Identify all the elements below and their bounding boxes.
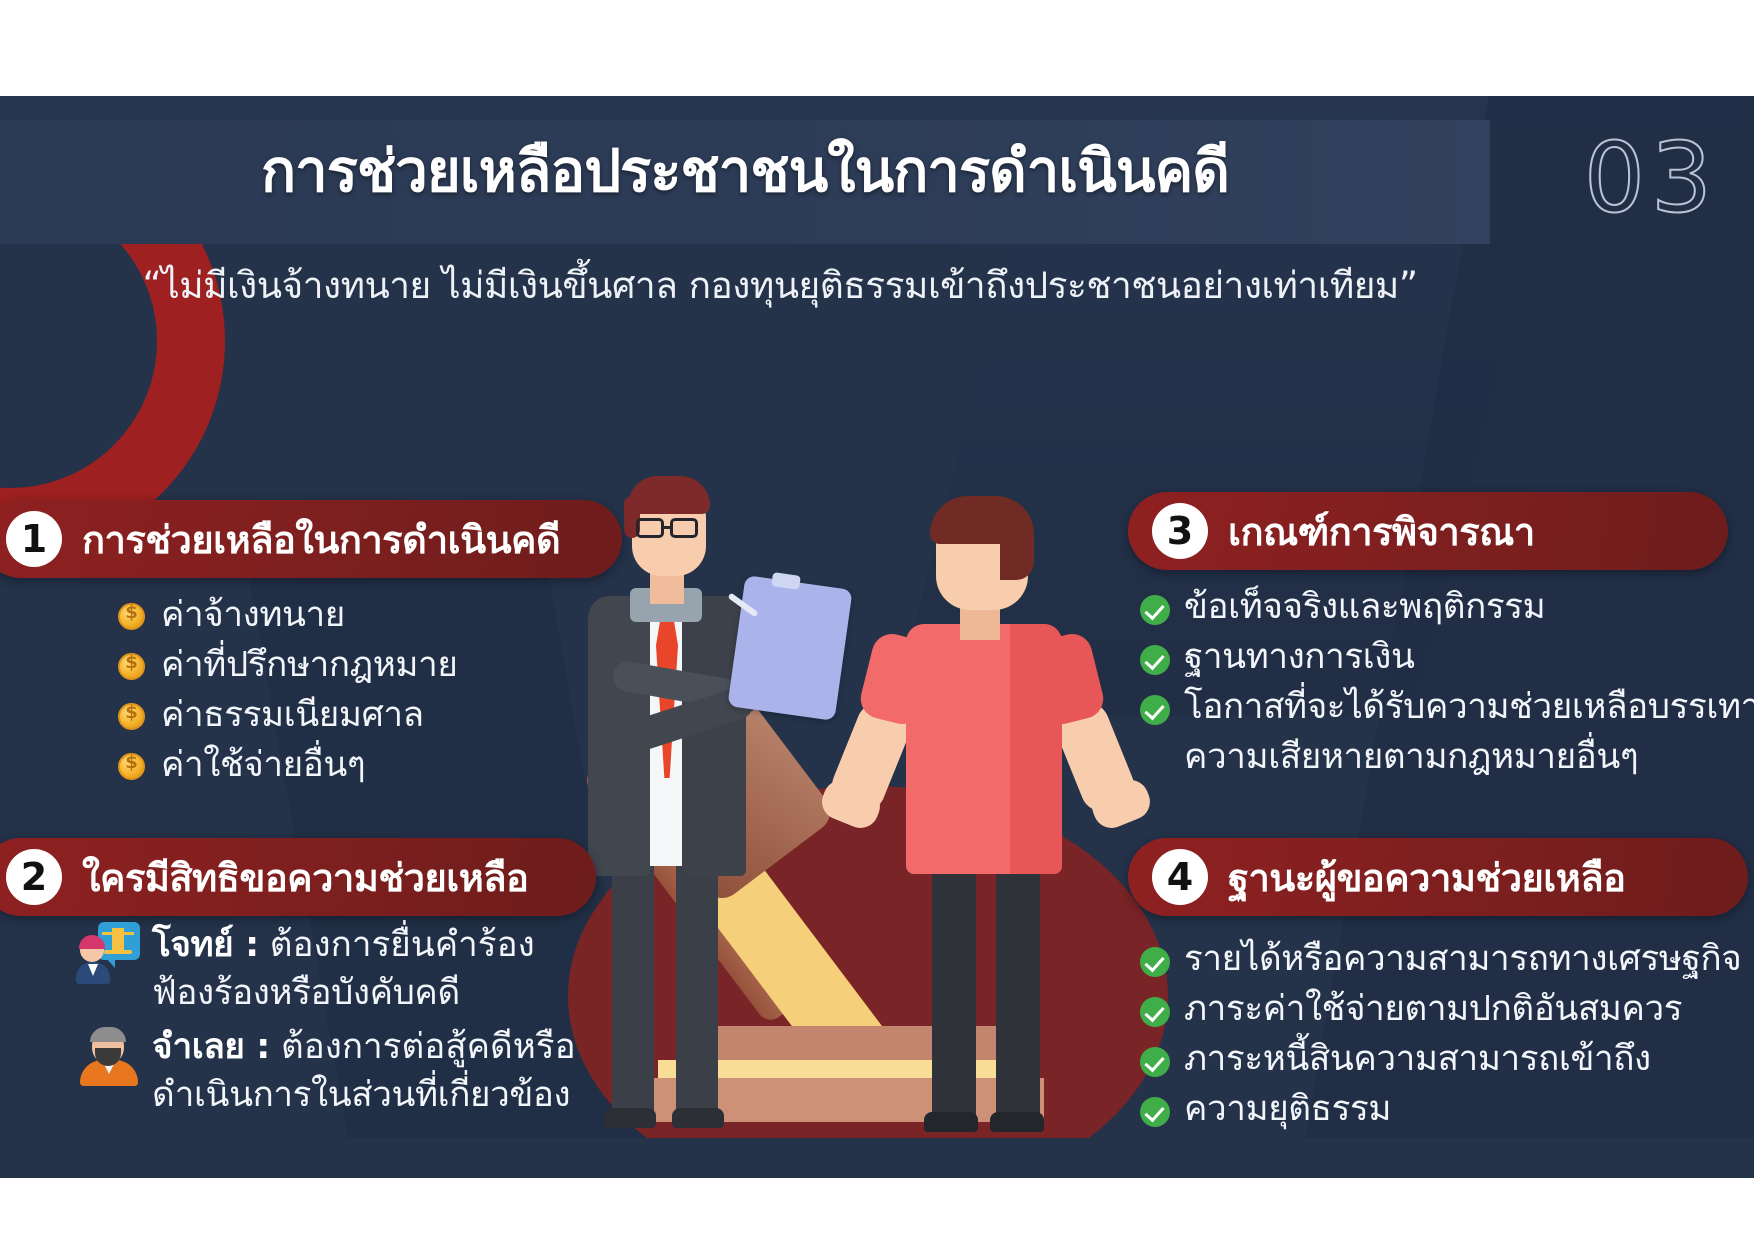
section-title-1: การช่วยเหลือในการดำเนินคดี (82, 509, 560, 570)
list-item: ฐานทางการเงิน (1140, 634, 1754, 680)
list-item: ข้อเท็จจริงและพฤติกรรม (1140, 584, 1754, 630)
list-item-label: ภาระค่าใช้จ่ายตามปกติอันสมควร (1184, 986, 1682, 1032)
check-icon (1140, 595, 1170, 625)
list-item: ภาระค่าใช้จ่ายตามปกติอันสมควร (1140, 986, 1741, 1032)
section-title-3: เกณฑ์การพิจารณา (1228, 501, 1535, 562)
glasses-bridge-icon (663, 526, 672, 529)
plaintiff-body (76, 962, 110, 984)
defendant-avatar-icon (78, 1024, 140, 1086)
section-1-list: ค่าจ้างทนาย ค่าที่ปรึกษากฎหมาย ค่าธรรมเน… (118, 592, 457, 792)
plaintiff-value: ต้องการยื่นคำร้อง (259, 925, 535, 965)
list-item-label: ค่าใช้จ่ายอื่นๆ (161, 742, 365, 788)
plaintiff-line-2: ฟ้องร้องหรือบังคับคดี (152, 972, 535, 1014)
list-item: จำเลย : ต้องการต่อสู้คดีหรือ ดำเนินการใน… (78, 1024, 618, 1116)
list-item: ค่าใช้จ่ายอื่นๆ (118, 742, 457, 788)
section-header-4[interactable]: 4 ฐานะผู้ขอความช่วยเหลือ (1128, 838, 1748, 916)
coin-icon (118, 703, 145, 730)
client-leg-right (996, 856, 1040, 1124)
coin-icon (118, 603, 145, 630)
check-icon (1140, 947, 1170, 977)
plaintiff-text-block: โจทย์ : ต้องการยื่นคำร้อง ฟ้องร้องหรือบั… (152, 922, 535, 1014)
client-figure (840, 484, 1140, 1124)
list-item: ค่าธรรมเนียมศาล (118, 692, 457, 738)
list-item: โจทย์ : ต้องการยื่นคำร้อง ฟ้องร้องหรือบั… (78, 922, 618, 1014)
list-item-label: ความยุติธรรม (1184, 1086, 1391, 1132)
illustration-scene (540, 426, 1160, 1176)
client-hair-side (1000, 514, 1034, 580)
list-item-label: โอกาสที่จะได้รับความช่วยเหลือบรรเทา (1184, 684, 1754, 730)
plaintiff-avatar-icon (78, 922, 140, 984)
section-title-2: ใครมีสิทธิขอความช่วยเหลือ (82, 847, 528, 908)
list-item-label: ค่าจ้างทนาย (161, 592, 345, 638)
defendant-hair (90, 1027, 126, 1042)
list-item-label: ภาระหนี้สินความสามารถเข้าถึง (1184, 1036, 1651, 1082)
section-number-3: 3 (1152, 503, 1208, 559)
lawyer-leg-right (676, 846, 718, 1121)
check-icon (1140, 1047, 1170, 1077)
list-item-continuation: ความเสียหายตามกฎหมายอื่นๆ (1140, 734, 1754, 780)
glasses-lens-right-icon (670, 518, 698, 538)
section-header-3[interactable]: 3 เกณฑ์การพิจารณา (1128, 492, 1728, 570)
section-title-4: ฐานะผู้ขอความช่วยเหลือ (1228, 847, 1625, 908)
list-item-label: ค่าที่ปรึกษากฎหมาย (161, 642, 457, 688)
slide-number-badge: 03 (1584, 122, 1718, 234)
plaintiff-line-1: โจทย์ : ต้องการยื่นคำร้อง (152, 924, 535, 972)
list-item: ภาระหนี้สินความสามารถเข้าถึง (1140, 1036, 1741, 1082)
list-item: ค่าที่ปรึกษากฎหมาย (118, 642, 457, 688)
lawyer-hair (628, 476, 710, 514)
section-header-1[interactable]: 1 การช่วยเหลือในการดำเนินคดี (0, 500, 622, 578)
list-item: ความยุติธรรม (1140, 1086, 1741, 1132)
background-bottom-strip (0, 1138, 1754, 1178)
glasses-lens-left-icon (636, 518, 664, 538)
section-4-list: รายได้หรือความสามารถทางเศรษฐกิจ ภาระค่าใ… (1140, 936, 1741, 1136)
list-item-label: ฐานทางการเงิน (1184, 634, 1415, 680)
section-number-1: 1 (6, 511, 62, 567)
check-icon (1140, 997, 1170, 1027)
slide-canvas: การช่วยเหลือประชาชนในการดำเนินคดี “ไม่มี… (0, 96, 1754, 1178)
section-2-list: โจทย์ : ต้องการยื่นคำร้อง ฟ้องร้องหรือบั… (78, 922, 618, 1126)
list-item: ค่าจ้างทนาย (118, 592, 457, 638)
client-shoe-left (924, 1112, 978, 1132)
page-frame-bottom (0, 1178, 1754, 1241)
coin-icon (118, 753, 145, 780)
plaintiff-label: โจทย์ : (152, 925, 259, 965)
coin-icon (118, 653, 145, 680)
defendant-value: ต้องการต่อสู้คดีหรือ (270, 1027, 576, 1067)
check-icon (1140, 645, 1170, 675)
scales-of-justice-icon (112, 928, 124, 954)
defendant-line-1: จำเลย : ต้องการต่อสู้คดีหรือ (152, 1026, 576, 1074)
section-3-list: ข้อเท็จจริงและพฤติกรรม ฐานทางการเงิน โอก… (1140, 584, 1754, 784)
defendant-line-2: ดำเนินการในส่วนที่เกี่ยวข้อง (152, 1074, 576, 1116)
client-shoe-right (990, 1112, 1044, 1132)
list-item: รายได้หรือความสามารถทางเศรษฐกิจ (1140, 936, 1741, 982)
lawyer-leg-left (612, 846, 654, 1121)
list-item-label: ความเสียหายตามกฎหมายอื่นๆ (1184, 734, 1638, 780)
page-title: การช่วยเหลือประชาชนในการดำเนินคดี (0, 124, 1490, 217)
infographic-page: การช่วยเหลือประชาชนในการดำเนินคดี “ไม่มี… (0, 0, 1754, 1241)
list-item-label: รายได้หรือความสามารถทางเศรษฐกิจ (1184, 936, 1741, 982)
lawyer-shoe-right (672, 1108, 724, 1128)
clipboard-icon (727, 575, 852, 721)
client-leg-left (932, 856, 976, 1124)
page-subtitle: “ไม่มีเงินจ้างทนาย ไม่มีเงินขึ้นศาล กองท… (0, 256, 1560, 315)
defendant-text-block: จำเลย : ต้องการต่อสู้คดีหรือ ดำเนินการใน… (152, 1024, 576, 1116)
check-icon (1140, 1097, 1170, 1127)
page-frame-top (0, 0, 1754, 96)
section-number-2: 2 (6, 849, 62, 905)
section-number-4: 4 (1152, 849, 1208, 905)
section-header-2[interactable]: 2 ใครมีสิทธิขอความช่วยเหลือ (0, 838, 596, 916)
check-icon (1140, 695, 1170, 725)
list-item: โอกาสที่จะได้รับความช่วยเหลือบรรเทา (1140, 684, 1754, 730)
defendant-label: จำเลย : (152, 1027, 270, 1067)
list-item-label: ข้อเท็จจริงและพฤติกรรม (1184, 584, 1545, 630)
list-item-label: ค่าธรรมเนียมศาล (161, 692, 424, 738)
